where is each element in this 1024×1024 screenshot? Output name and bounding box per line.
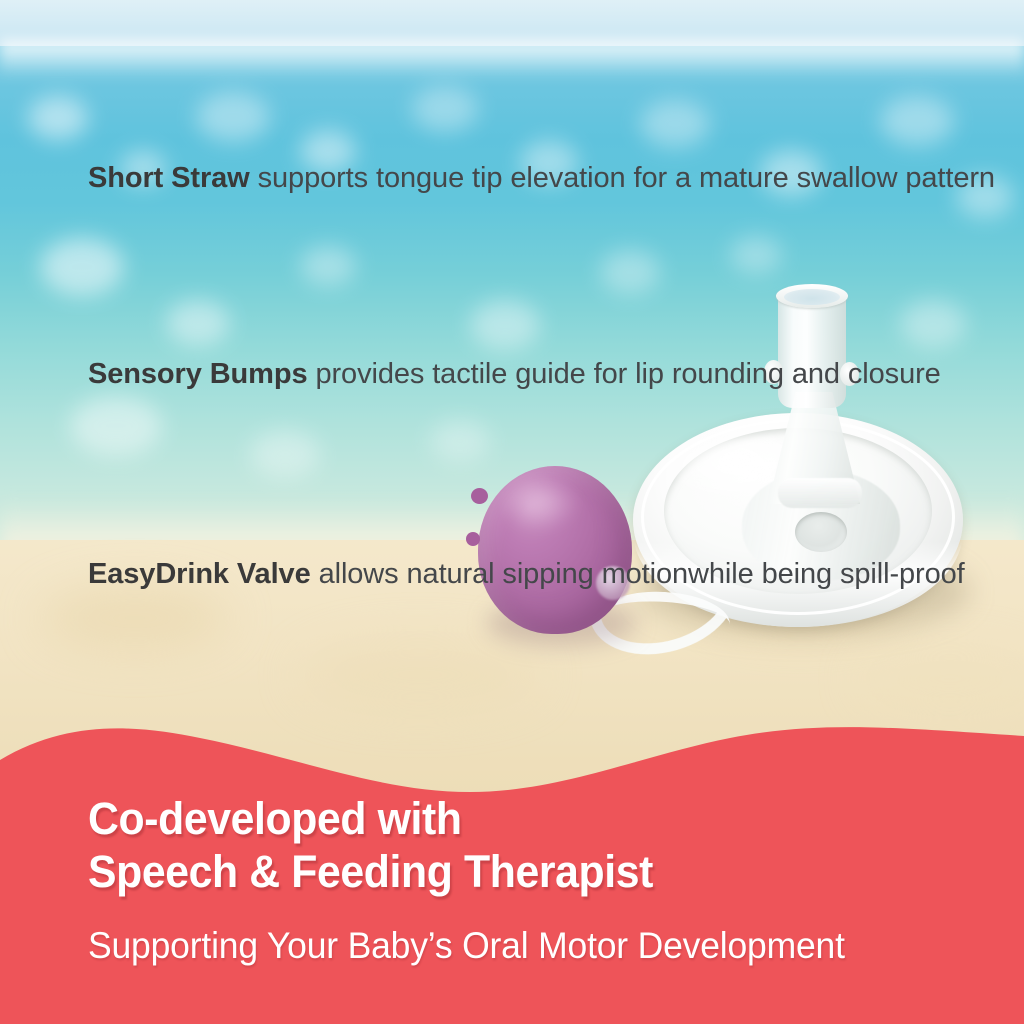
- valve-ball-nub-upper: [471, 488, 488, 504]
- bottom-banner: Co-developed with Speech & Feeding Thera…: [0, 700, 1024, 1024]
- spout-valve-opening: [795, 512, 847, 552]
- feature-body: supports tongue tip elevation for a matu…: [250, 162, 995, 194]
- infographic-stage: Short Straw supports tongue tip elevatio…: [0, 0, 1024, 1024]
- feature-body: allows natural sipping motionwhile being…: [311, 558, 965, 590]
- feature-title: Short Straw: [88, 162, 250, 194]
- feature-title: EasyDrink Valve: [88, 558, 311, 590]
- feature-callout-short-straw: Short Straw supports tongue tip elevatio…: [88, 158, 995, 198]
- valve-ball-highlight: [505, 482, 581, 532]
- banner-text-block: Co-developed with Speech & Feeding Thera…: [0, 700, 1024, 1024]
- feature-callout-sensory-bumps: Sensory Bumps provides tactile guide for…: [88, 354, 941, 394]
- valve-ball-nub-lower: [466, 532, 480, 546]
- feature-title: Sensory Bumps: [88, 358, 308, 390]
- feature-body: provides tactile guide for lip rounding …: [308, 358, 941, 390]
- headline-line-2: Speech & Feeding Therapist: [88, 845, 943, 898]
- headline-line-1: Co-developed with: [88, 792, 943, 845]
- feature-callout-easydrink-valve: EasyDrink Valve allows natural sipping m…: [88, 554, 965, 594]
- spout-crosspiece: [778, 478, 862, 508]
- banner-headline: Co-developed with Speech & Feeding Thera…: [88, 792, 943, 898]
- straw-opening: [784, 289, 840, 305]
- banner-subline: Supporting Your Baby’s Oral Motor Develo…: [88, 924, 971, 968]
